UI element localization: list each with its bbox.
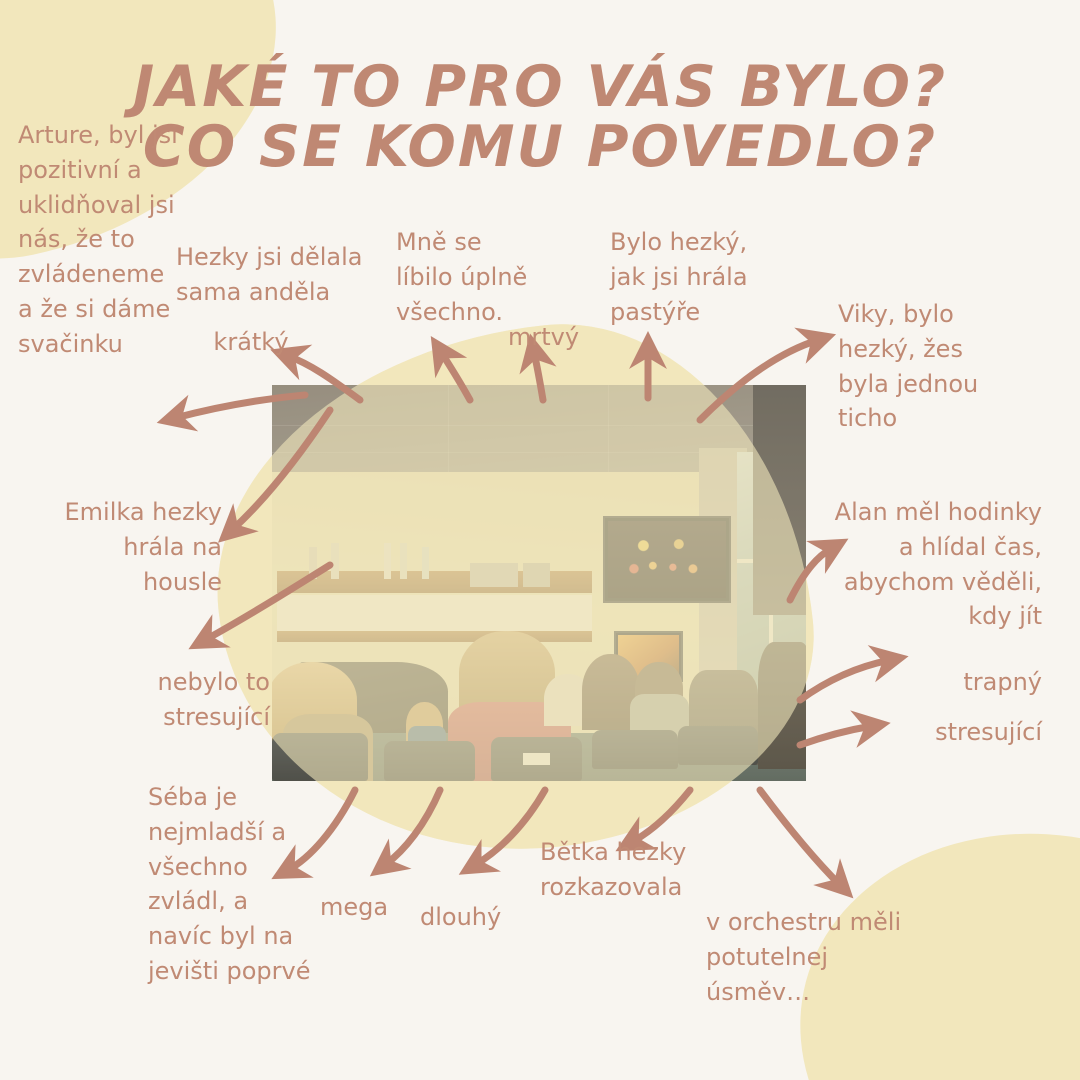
note-hezky-andela: Hezky jsi dělala sama anděla [176, 240, 391, 310]
note-mne-se-libilo: Mně se líbilo úplně všechno. [396, 225, 531, 329]
note-arture: Arture, byl jsi pozitivní a uklidňoval j… [18, 118, 178, 362]
title-line-1: Jaké to pro vás bylo? [0, 58, 1080, 118]
note-trapny: trapný [830, 665, 1042, 700]
note-betka: Bětka hezky rozkazovala [540, 835, 700, 905]
arrow-to-orchestr [760, 790, 840, 885]
note-dlouhy: dlouhý [420, 900, 525, 935]
poster-canvas: Jaké to pro vás bylo? Co se komu povedlo… [0, 0, 1080, 1080]
note-bylo-hezky-pastyre: Bylo hezký, jak jsi hrála pastýře [610, 225, 775, 329]
note-viky: Viky, bylo hezký, žes byla jednou ticho [838, 297, 1013, 436]
classroom-photo [272, 385, 806, 781]
note-stresujici-right: stresující [830, 715, 1042, 750]
note-nebylo-stresujici: nebylo to stresující [130, 665, 270, 735]
photo-warm-tint [272, 385, 806, 781]
note-mega: mega [320, 890, 410, 925]
note-seba: Séba je nejmladší a všechno zvládl, a na… [148, 780, 313, 989]
note-orchestr: v orchestru měli potutelnej úsměv… [706, 905, 936, 1009]
note-emilka: Emilka hezky hrála na housle [42, 495, 222, 599]
photo-content [272, 385, 806, 781]
note-alan: Alan měl hodinky a hlídal čas, abychom v… [830, 495, 1042, 634]
note-kratky: krátký [196, 325, 306, 360]
note-mrtvy: mrtvý [508, 320, 588, 355]
